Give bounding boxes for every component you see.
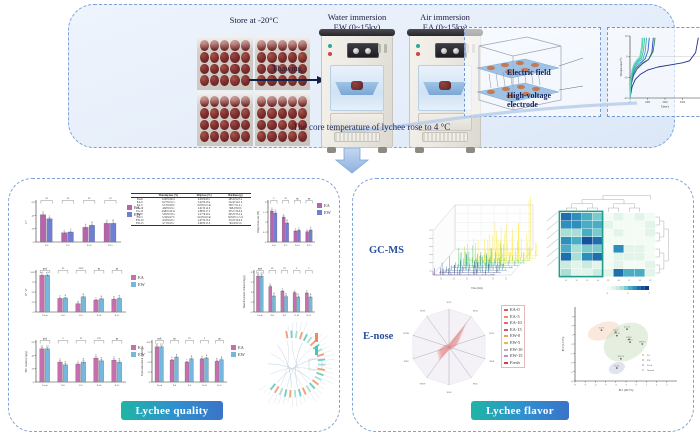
svg-text:**: ** (109, 198, 112, 201)
lychee-berry (210, 108, 219, 119)
svg-text:EA-10: EA-10 (614, 332, 621, 335)
svg-text:E-0: E-0 (45, 245, 49, 247)
svg-text:E-0: E-0 (271, 315, 275, 317)
svg-text:20: 20 (32, 368, 35, 371)
svg-text:E-5: E-5 (188, 385, 192, 387)
lychee-quality-panel: 0204060L*aAE-0**cCE-5**bBE-10**bBE-15** … (8, 178, 340, 432)
svg-text:E-5: E-5 (79, 315, 83, 317)
svg-text:B: B (191, 356, 193, 358)
svg-text:1: 1 (265, 221, 267, 224)
lychee-berry (288, 52, 297, 63)
svg-text:B: B (65, 361, 67, 363)
svg-text:**: ** (271, 268, 274, 271)
svg-text:c: c (77, 361, 78, 363)
svg-text:B: B (285, 294, 287, 296)
svg-text:B: B (83, 294, 85, 296)
svg-text:E-10: E-10 (202, 385, 207, 387)
lychee-berry (298, 131, 307, 142)
svg-text:75: 75 (148, 351, 151, 354)
radar-legend-item: EW-0 (504, 333, 522, 340)
svg-text:60: 60 (32, 201, 35, 204)
quality-results-table: Thawing loss (%)Drip loss (%)Hardness (g… (131, 193, 251, 226)
svg-text:4: 4 (251, 291, 253, 294)
svg-text:3: 3 (571, 316, 573, 318)
svg-text:2: 2 (656, 385, 658, 387)
svg-text:40: 40 (32, 354, 35, 357)
lychee-berry (220, 131, 229, 142)
lychee-berry (220, 108, 229, 119)
svg-text:b: b (270, 283, 272, 285)
lychee-berry (230, 75, 239, 86)
svg-text:25: 25 (32, 301, 35, 304)
thawing-arrow (249, 79, 325, 81)
radar-legend-item: EW-10 (504, 347, 522, 354)
lychee-berry (230, 131, 239, 142)
svg-text:B: B (286, 220, 288, 222)
svg-text:c: c (64, 230, 65, 232)
svg-text:Time/s: Time/s (661, 105, 670, 109)
legend-ew: EW (131, 282, 145, 289)
svg-text:W3S: W3S (420, 310, 425, 313)
svg-text:B: B (176, 354, 178, 356)
svg-text:W5S: W5S (473, 310, 478, 313)
pca-scatter: -6-5-4-3-2-10123-4-3-2-10123PC1 (66.7%)P… (557, 299, 685, 406)
svg-text:c: c (283, 214, 284, 216)
svg-text:W5C: W5C (473, 382, 478, 385)
svg-text:E-0: E-0 (61, 315, 65, 317)
svg-text:c: c (307, 229, 308, 231)
svg-text:b: b (106, 220, 108, 222)
legend-ew: EW (317, 210, 331, 217)
svg-text:60: 60 (32, 341, 35, 344)
svg-text:E-15: E-15 (115, 385, 120, 387)
legend-ew: EW (231, 352, 245, 359)
svg-text:Fresh: Fresh (42, 385, 48, 387)
svg-text:EW-15: EW-15 (618, 356, 625, 358)
svg-text:B: B (91, 222, 93, 224)
svg-text:Total antioxidant capacity: Total antioxidant capacity (141, 347, 144, 376)
table-cell: EW-15 (131, 222, 148, 226)
lychee-berry (278, 108, 287, 119)
svg-text:0: 0 (33, 381, 35, 384)
svg-text:aA: aA (41, 344, 44, 347)
svg-text:C: C (298, 227, 300, 229)
svg-text:PC2 (13.2%): PC2 (13.2%) (562, 337, 565, 352)
svg-text:0: 0 (636, 385, 638, 387)
svg-text:0: 0 (33, 241, 35, 244)
radar-legend-item: EW-5 (504, 340, 522, 347)
lychee-berry (278, 131, 287, 142)
circos-plot (249, 321, 335, 412)
svg-text:**: ** (80, 338, 83, 341)
svg-text:E-10: E-10 (97, 385, 102, 387)
svg-text:W2W: W2W (403, 332, 409, 335)
svg-text:ns: ns (308, 198, 310, 201)
lychee-berry (210, 64, 219, 75)
svg-text:E-10: E-10 (87, 245, 92, 247)
svg-text:ns: ns (173, 338, 175, 341)
lychee-berry (210, 52, 219, 63)
svg-text:c: c (186, 359, 187, 361)
core-temperature-caption: The core temperature of lychee rose to 4… (69, 122, 674, 132)
svg-text:EW-0: EW-0 (627, 337, 633, 339)
svg-text:25: 25 (148, 371, 151, 374)
svg-text:W6S: W6S (489, 360, 494, 363)
photo-cell (255, 92, 311, 146)
chart-l2-legend: EA EW (131, 275, 145, 288)
svg-text:-5: -5 (584, 385, 587, 387)
svg-text:EW-10: EW-10 (639, 341, 646, 343)
photo-cell (197, 92, 253, 146)
svg-text:**: ** (62, 268, 65, 271)
svg-text:B: B (298, 294, 300, 296)
svg-text:B: B (310, 294, 312, 296)
svg-text:0: 0 (627, 292, 629, 295)
svg-text:E-10: E-10 (97, 315, 102, 317)
svg-text:W2S: W2S (404, 360, 409, 363)
lychee-berry (230, 64, 239, 75)
svg-text:****: **** (78, 268, 84, 271)
svg-text:2: 2 (648, 292, 650, 295)
svg-text:B: B (101, 296, 103, 298)
lychee-flavor-panel: GC-MS E-nose Time (min) -202S1S2S3S4S5S6… (352, 178, 694, 432)
svg-text:Normal: Normal (647, 370, 654, 372)
svg-text:EW: EW (647, 360, 651, 362)
svg-text:E-10: E-10 (295, 245, 300, 247)
svg-text:b: b (171, 357, 173, 359)
lychee-berry (220, 64, 229, 75)
svg-text:0: 0 (626, 56, 628, 59)
chart-l2: 0255075100b* / a*aAaAFreshnsAbBE-0**dBE-… (23, 261, 128, 328)
svg-text:nsA: nsA (157, 338, 161, 341)
lychee-berry (210, 131, 219, 142)
chart-m2: 02468Total flavonoid content (mg/g)aAaAF… (241, 261, 317, 328)
svg-text:S7: S7 (628, 280, 631, 282)
svg-text:c: c (294, 290, 295, 292)
enose-radar: W1CW5SW3CW6SW5CW1SW1WW2SW2WW3S (387, 297, 512, 406)
svg-text:**: ** (67, 198, 70, 201)
svg-text:75: 75 (32, 281, 35, 284)
svg-text:0: 0 (251, 311, 253, 314)
store-label: Store at -20°C (189, 15, 319, 25)
lychee-berry (220, 75, 229, 86)
svg-text:E-10: E-10 (294, 315, 299, 317)
svg-text:-1: -1 (625, 385, 628, 387)
svg-text:ns: ns (116, 268, 118, 271)
svg-text:Fresh: Fresh (157, 385, 163, 387)
svg-text:EA: EA (647, 354, 650, 357)
svg-text:**: ** (188, 338, 191, 341)
svg-text:100: 100 (30, 271, 34, 274)
machine-air-line1: Air immersion (402, 12, 488, 22)
chart-m1-legend: EA EW (317, 203, 331, 216)
svg-text:2: 2 (251, 301, 253, 304)
svg-text:6: 6 (251, 281, 253, 284)
svg-text:**: ** (45, 198, 48, 201)
svg-text:B: B (83, 359, 85, 361)
radar-legend-item: EA-10 (504, 320, 522, 327)
top-process-panel: Store at -20°C Thawing Water immersion E… (68, 4, 675, 148)
radar-legend-item: Fresh (504, 360, 522, 367)
lychee-berry (220, 52, 229, 63)
radar-legend-item: EA-15 (504, 327, 522, 334)
table-cell: 361.9±9.5 b (220, 222, 251, 226)
svg-text:E-0: E-0 (272, 245, 276, 247)
svg-text:20: 20 (32, 228, 35, 231)
svg-text:W1W: W1W (420, 382, 426, 385)
svg-text:W3C: W3C (489, 332, 494, 335)
svg-text:Time (min): Time (min) (471, 287, 483, 290)
thawing-label: Thawing (244, 63, 330, 73)
lychee-berry (210, 75, 219, 86)
svg-text:1.5: 1.5 (263, 211, 267, 214)
svg-text:**: ** (88, 198, 91, 201)
enose-radar-legend: EA-0EA-5EA-10EA-15EW-0EW-5EW-10EW-15Fres… (501, 305, 525, 368)
svg-text:c: c (295, 228, 296, 230)
svg-text:a: a (43, 211, 44, 213)
svg-text:nsA: nsA (43, 338, 47, 341)
svg-text:a: a (271, 207, 272, 209)
lychee-berry (298, 52, 307, 63)
svg-text:aA: aA (156, 343, 159, 346)
chart-l3: 0204060TPC content (mg/g)aAaAFreshnsAbBE… (23, 331, 128, 398)
svg-text:0.5: 0.5 (263, 231, 267, 234)
svg-text:E-5: E-5 (66, 245, 70, 247)
lychee-berry (200, 108, 209, 119)
svg-text:-3: -3 (571, 372, 574, 374)
flow-down-arrow (335, 148, 369, 174)
lychee-berry (200, 64, 209, 75)
lychee-berry (200, 52, 209, 63)
svg-text:-1: -1 (571, 353, 574, 355)
svg-text:E-15: E-15 (115, 315, 120, 317)
svg-text:*: * (204, 338, 206, 341)
svg-text:-2: -2 (615, 385, 618, 387)
radar-legend-item: EA-5 (504, 314, 522, 321)
svg-text:b* / a*: b* / a* (25, 288, 28, 296)
svg-text:d: d (77, 301, 79, 303)
svg-text:E-15: E-15 (307, 315, 312, 317)
svg-text:aA: aA (260, 272, 263, 275)
lychee-flavor-pill: Lychee flavor (471, 401, 569, 420)
svg-text:50: 50 (32, 291, 35, 294)
svg-text:S8: S8 (639, 280, 642, 282)
svg-text:1: 1 (571, 335, 573, 337)
svg-text:bc: bc (216, 358, 218, 360)
svg-text:**: ** (283, 268, 286, 271)
svg-text:2: 2 (571, 326, 573, 328)
svg-text:ns: ns (116, 338, 118, 341)
svg-text:E-0: E-0 (173, 385, 177, 387)
svg-text:b: b (201, 356, 203, 358)
legend-ea: EA (231, 345, 245, 352)
radar-legend-item: EW-15 (504, 353, 522, 360)
svg-text:-4: -4 (594, 385, 597, 387)
legend-ea: EA (317, 203, 331, 210)
svg-text:-3: -3 (605, 385, 608, 387)
svg-text:ns: ns (218, 338, 220, 341)
svg-text:-2: -2 (606, 292, 609, 295)
svg-text:0: 0 (571, 344, 573, 346)
legend-ea: EA (131, 275, 145, 282)
svg-text:C: C (70, 229, 72, 231)
gcms-heatmap: -202S1S2S3S4S5S6S7S8S9 (545, 187, 685, 304)
svg-text:*: * (62, 338, 64, 341)
gcms-label: GC-MS (369, 245, 404, 256)
svg-text:Total flavonoid content (mg/g): Total flavonoid content (mg/g) (243, 275, 246, 308)
machine-water-line1: Water immersion (314, 12, 400, 22)
lychee-berry (267, 131, 276, 142)
radar-legend-item: EA-0 (504, 307, 522, 314)
svg-text:**: ** (284, 198, 287, 201)
svg-text:S9: S9 (649, 280, 651, 282)
svg-text:ns: ns (296, 198, 298, 201)
svg-text:S5: S5 (607, 280, 610, 282)
svg-text:b: b (85, 224, 87, 226)
svg-text:3000: 3000 (680, 101, 686, 104)
lychee-berry (298, 108, 307, 119)
svg-text:*: * (296, 268, 298, 271)
svg-text:*: * (273, 198, 275, 201)
lychee-berry (267, 108, 276, 119)
svg-text:A: A (49, 214, 51, 217)
svg-text:EW-5: EW-5 (628, 340, 634, 342)
svg-text:-10: -10 (624, 76, 628, 79)
svg-text:*: * (308, 268, 310, 271)
svg-text:B: B (112, 220, 114, 222)
chart-m3: 0255075100Total antioxidant capacityaAaA… (139, 331, 229, 398)
svg-text:Temperature/°C: Temperature/°C (619, 57, 623, 76)
svg-text:B: B (65, 295, 67, 297)
svg-text:S6: S6 (618, 280, 621, 282)
svg-text:PC1 (66.7%): PC1 (66.7%) (619, 389, 634, 392)
svg-text:E-0: E-0 (61, 385, 65, 387)
svg-text:Fresh: Fresh (258, 315, 264, 317)
svg-text:50: 50 (148, 361, 151, 364)
lychee-berry (200, 75, 209, 86)
svg-text:B: B (119, 359, 121, 361)
svg-text:1000: 1000 (645, 101, 651, 104)
svg-text:S4: S4 (597, 280, 600, 282)
lychee-berry (288, 108, 297, 119)
svg-text:E-5: E-5 (284, 245, 288, 247)
svg-text:E-5: E-5 (79, 385, 83, 387)
svg-text:c: c (95, 297, 96, 299)
svg-text:B: B (119, 296, 121, 298)
svg-text:E-15: E-15 (108, 245, 113, 247)
svg-text:1: 1 (646, 385, 648, 387)
svg-text:Fresh: Fresh (42, 315, 48, 317)
svg-text:-4: -4 (571, 381, 574, 383)
lychee-quality-pill: Lychee quality (121, 401, 223, 420)
svg-text:-2: -2 (571, 363, 574, 365)
svg-text:aA: aA (46, 271, 49, 274)
svg-text:nsA: nsA (43, 268, 47, 271)
lychee-berry (257, 108, 266, 119)
svg-text:C: C (310, 227, 312, 229)
svg-text:b: b (95, 355, 97, 357)
svg-text:S3: S3 (586, 280, 589, 282)
electric-field-label: Electric field (507, 68, 551, 77)
table-cell: 4.71±0.25 c (148, 222, 188, 226)
svg-text:W1C: W1C (446, 301, 451, 304)
chart-m1: 00.511.52Weight loss rate (%)aAE-0*cBE-5… (255, 191, 317, 258)
svg-text:A: A (275, 209, 277, 212)
svg-text:S1: S1 (565, 280, 567, 282)
figure-root: Store at -20°C Thawing Water immersion E… (0, 0, 700, 435)
svg-text:W1S: W1S (447, 391, 452, 394)
svg-text:L*: L* (25, 220, 28, 224)
lychee-berry (267, 52, 276, 63)
svg-text:B: B (221, 357, 223, 359)
lychee-berry (230, 108, 239, 119)
svg-text:E-15: E-15 (217, 385, 222, 387)
lychee-berry (257, 52, 266, 63)
svg-text:0: 0 (265, 241, 267, 244)
gcms-3d-plot: Time (min) (407, 193, 539, 298)
svg-text:TPC content (mg/g): TPC content (mg/g) (25, 351, 28, 373)
svg-text:E-5: E-5 (283, 315, 287, 317)
lychee-berry (288, 131, 297, 142)
svg-text:E-15: E-15 (307, 245, 312, 247)
svg-text:8: 8 (251, 271, 253, 274)
svg-text:0: 0 (33, 311, 35, 314)
svg-text:ns: ns (98, 268, 100, 271)
svg-text:c: c (282, 288, 283, 290)
svg-text:B: B (101, 357, 103, 359)
svg-text:aA: aA (160, 343, 163, 346)
svg-text:aA: aA (46, 344, 49, 347)
chart-l1: 0204060L*aAE-0**cCE-5**bBE-10**bBE-15** (23, 191, 123, 258)
lychee-berry (257, 131, 266, 142)
svg-text:S2: S2 (576, 280, 578, 282)
svg-text:b: b (59, 296, 61, 298)
svg-text:100: 100 (146, 341, 150, 344)
svg-text:aA: aA (41, 271, 44, 274)
svg-text:B: B (273, 293, 275, 295)
lychee-berry (230, 52, 239, 63)
svg-text:bc: bc (113, 296, 115, 298)
svg-text:-6: -6 (574, 385, 577, 387)
table-cell: 2.69±0.15 b (188, 222, 219, 226)
svg-text:2: 2 (265, 201, 267, 204)
chart-m3-legend: EA EW (231, 345, 245, 358)
svg-text:B: B (206, 355, 208, 357)
svg-text:Fresh: Fresh (647, 365, 653, 367)
svg-text:0: 0 (149, 381, 151, 384)
svg-text:EA-15: EA-15 (624, 326, 631, 329)
table-row: EW-154.71±0.25 c2.69±0.15 b361.9±9.5 b (131, 222, 251, 226)
lychee-berry (278, 52, 287, 63)
svg-text:aA: aA (257, 272, 260, 275)
lychee-berry (200, 131, 209, 142)
svg-text:Weight loss rate (%): Weight loss rate (%) (257, 211, 260, 233)
svg-text:c: c (306, 290, 307, 292)
svg-text:3: 3 (666, 385, 668, 387)
svg-text:10: 10 (625, 35, 628, 38)
svg-text:b: b (59, 359, 61, 361)
lychee-berry (241, 131, 250, 142)
svg-text:b: b (113, 357, 115, 359)
svg-text:nsA: nsA (258, 268, 262, 271)
lychee-berry (241, 108, 250, 119)
svg-text:40: 40 (32, 214, 35, 217)
svg-text:***: *** (97, 338, 102, 341)
lychee-berry (241, 52, 250, 63)
